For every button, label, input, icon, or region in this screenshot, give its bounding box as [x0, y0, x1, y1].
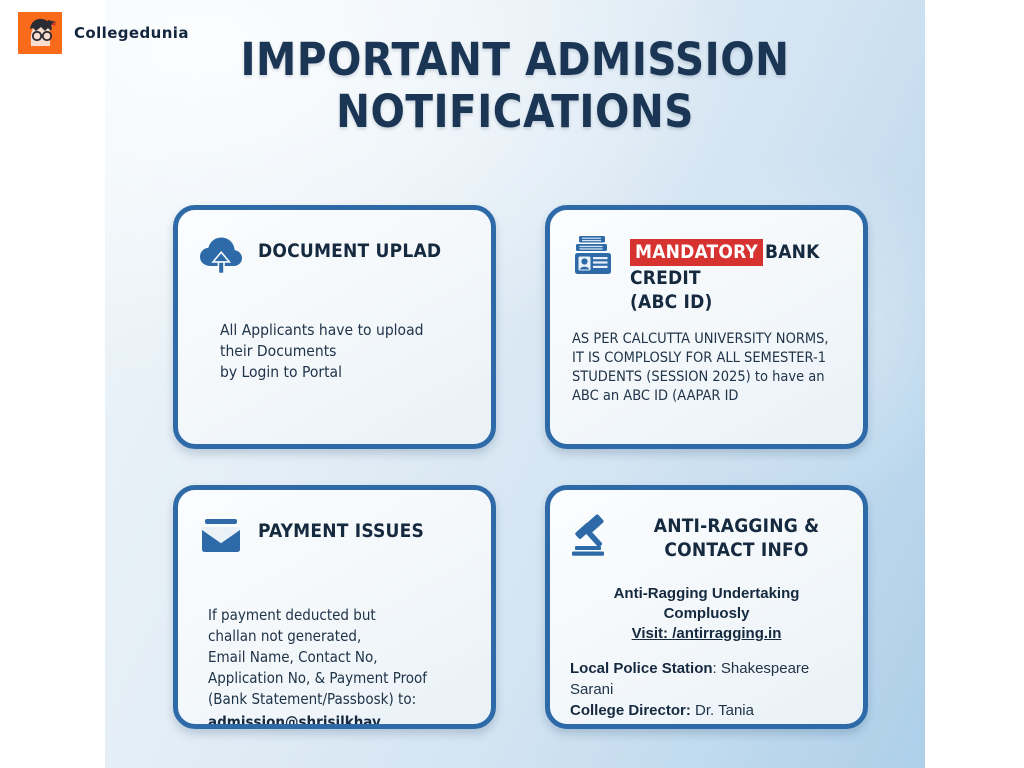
brand-name: Collegedunia	[74, 24, 189, 42]
card-body-text: AS PER CALCUTTA UNIVERSITY NORMS, IT IS …	[572, 330, 843, 406]
card-header: MANDATORYBANK CREDIT (ABC ID)	[570, 232, 843, 314]
card-title: PAYMENT ISSUES	[258, 512, 424, 543]
contact-row: College Director: Dr. Tania Chakravertty	[570, 700, 843, 729]
card-body-text: All Applicants have to upload their Docu…	[220, 320, 471, 383]
card-header: ANTI-RAGGING & CONTACT INFO	[570, 512, 843, 562]
card-title-line2: CONTACT INFO	[664, 539, 808, 561]
contact-label: College Director:	[570, 702, 691, 719]
card-document-upload[interactable]: DOCUMENT UPLAD All Applicants have to up…	[173, 205, 496, 449]
card-body-text: Anti-Ragging Undertaking Compluosly Visi…	[570, 584, 843, 729]
undertaking-line: Anti-Ragging Undertaking Compluosly Visi…	[570, 584, 843, 644]
card-payment-issues[interactable]: PAYMENT ISSUES If payment deducted but c…	[173, 485, 496, 729]
card-body-text: If payment deducted but challan not gene…	[208, 584, 471, 729]
books-id-card-icon	[570, 232, 616, 278]
contact-label: Local Police Station	[570, 660, 713, 677]
card-title-line1: ANTI-RAGGING &	[654, 515, 819, 537]
collegedunia-face-logo	[18, 12, 62, 54]
contact-row: Local Police Station: Shakespeare Sarani	[570, 658, 843, 700]
page-title: IMPORTANT ADMISSION NOTIFICATIONS	[105, 34, 925, 138]
card-title: MANDATORYBANK CREDIT (ABC ID)	[630, 232, 843, 314]
cloud-upload-icon	[198, 232, 244, 278]
visit-link[interactable]: Visit: /antirragging.in	[632, 625, 782, 642]
card-header: PAYMENT ISSUES	[198, 512, 471, 558]
notification-card-grid: DOCUMENT UPLAD All Applicants have to up…	[173, 205, 868, 729]
payment-instructions: If payment deducted but challan not gene…	[208, 606, 427, 708]
contact-list: Local Police Station: Shakespeare Sarani…	[570, 658, 843, 729]
undertaking-text: Anti-Ragging Undertaking Compluosly	[614, 585, 800, 622]
card-bank-credit-abc-id[interactable]: MANDATORYBANK CREDIT (ABC ID) AS PER CAL…	[545, 205, 868, 449]
card-title: DOCUMENT UPLAD	[258, 232, 441, 263]
brand-header: Collegedunia	[18, 12, 189, 54]
card-title-line2: (ABC ID)	[630, 291, 713, 313]
card-header: DOCUMENT UPLAD	[198, 232, 471, 278]
poster-screen: Collegedunia IMPORTANT ADMISSION NOTIFIC…	[0, 0, 1024, 768]
gavel-icon	[570, 512, 616, 558]
poster-panel: IMPORTANT ADMISSION NOTIFICATIONS DOC	[105, 0, 925, 768]
status-badge: MANDATORY	[630, 239, 763, 266]
visit-label: Visit:	[632, 625, 668, 642]
envelope-icon	[198, 512, 244, 558]
visit-url: /antirragging.in	[672, 625, 781, 642]
card-title: ANTI-RAGGING & CONTACT INFO	[630, 512, 843, 562]
admission-email-link[interactable]: admission@shrisilkhay tancollege.in	[208, 712, 471, 729]
card-anti-ragging-contact[interactable]: ANTI-RAGGING & CONTACT INFO Anti-Ragging…	[545, 485, 868, 729]
